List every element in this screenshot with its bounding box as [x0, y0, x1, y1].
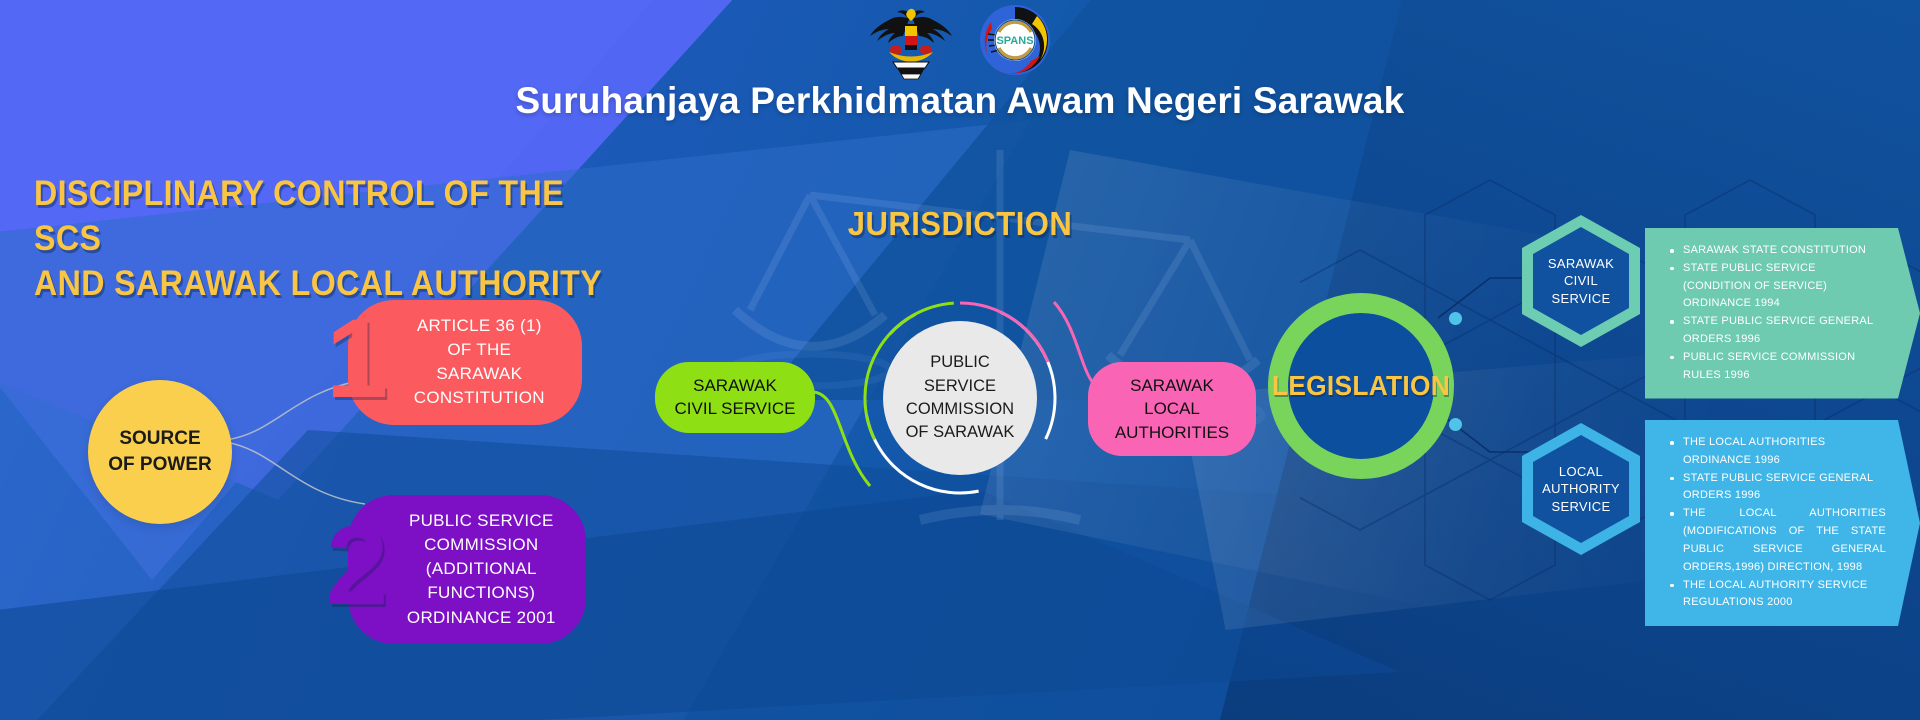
- legislation-branch-1-list: SARAWAK STATE CONSTITUTION STATE PUBLIC …: [1665, 242, 1886, 385]
- organisation-title: Suruhanjaya Perkhidmatan Awam Negeri Sar…: [0, 80, 1920, 122]
- list-item: THE LOCAL AUTHORITY SERVICE REGULATIONS …: [1681, 577, 1886, 613]
- legislation-label: LEGISLATION: [1274, 293, 1449, 479]
- legislation-connector-dot-top: [1449, 312, 1462, 325]
- jurisdiction-title: JURISDICTION: [847, 205, 1073, 243]
- legislation-branch-1-panel: SARAWAK STATE CONSTITUTION STATE PUBLIC …: [1645, 228, 1920, 399]
- source-item-1-number: 1: [326, 313, 388, 405]
- sarawak-coat-of-arms-icon: [869, 4, 953, 80]
- legislation-node[interactable]: LEGISLATION: [1268, 293, 1454, 479]
- list-item: THE LOCAL AUTHORITIES ORDINANCE 1996: [1681, 434, 1886, 470]
- infographic-canvas: SPANS Suruhanjaya Perkhidmatan Awam Nege…: [0, 0, 1920, 720]
- legislation-branch-2-list: THE LOCAL AUTHORITIES ORDINANCE 1996 STA…: [1665, 434, 1886, 612]
- spans-logo-text: SPANS: [996, 35, 1033, 47]
- source-item-2[interactable]: 2 PUBLIC SERVICE COMMISSION (ADDITIONAL …: [326, 495, 586, 644]
- jurisdiction-center[interactable]: PUBLIC SERVICE COMMISSION OF SARAWAK: [852, 290, 1068, 506]
- list-item: STATE PUBLIC SERVICE (CONDITION OF SERVI…: [1681, 260, 1886, 313]
- source-item-2-number: 2: [326, 520, 388, 612]
- source-of-power-line-2: OF POWER: [108, 452, 211, 478]
- source-of-power-line-1: SOURCE: [119, 426, 200, 452]
- source-item-1[interactable]: 1 ARTICLE 36 (1) OF THE SARAWAK CONSTITU…: [326, 300, 582, 425]
- list-item: STATE PUBLIC SERVICE GENERAL ORDERS 1996: [1681, 470, 1886, 506]
- header: SPANS Suruhanjaya Perkhidmatan Awam Nege…: [0, 0, 1920, 122]
- list-item: PUBLIC SERVICE COMMISSION RULES 1996: [1681, 349, 1886, 385]
- legislation-branch-2-panel: THE LOCAL AUTHORITIES ORDINANCE 1996 STA…: [1645, 420, 1920, 626]
- source-of-power-node[interactable]: SOURCE OF POWER: [88, 380, 232, 524]
- legislation-branch-2-hex[interactable]: LOCAL AUTHORITY SERVICE: [1522, 423, 1640, 555]
- jurisdiction-left-node[interactable]: SARAWAK CIVIL SERVICE: [655, 362, 815, 433]
- list-item: SARAWAK STATE CONSTITUTION: [1681, 242, 1886, 260]
- legislation-branch-1-hex[interactable]: SARAWAK CIVIL SERVICE: [1522, 215, 1640, 347]
- legislation-connector-dot-bottom: [1449, 418, 1462, 431]
- logo-row: SPANS: [0, 0, 1920, 76]
- jurisdiction-center-label: PUBLIC SERVICE COMMISSION OF SARAWAK: [883, 321, 1037, 475]
- main-heading-line-1: DISCIPLINARY CONTROL OF THE SCS: [34, 172, 604, 262]
- main-heading: DISCIPLINARY CONTROL OF THE SCS AND SARA…: [34, 172, 604, 306]
- list-item: STATE PUBLIC SERVICE GENERAL ORDERS 1996: [1681, 313, 1886, 349]
- list-item: THE LOCAL AUTHORITIES (MODIFICATIONS OF …: [1681, 505, 1886, 576]
- spans-logo-icon: SPANS: [979, 4, 1051, 76]
- jurisdiction-right-node[interactable]: SARAWAK LOCAL AUTHORITIES: [1088, 362, 1256, 456]
